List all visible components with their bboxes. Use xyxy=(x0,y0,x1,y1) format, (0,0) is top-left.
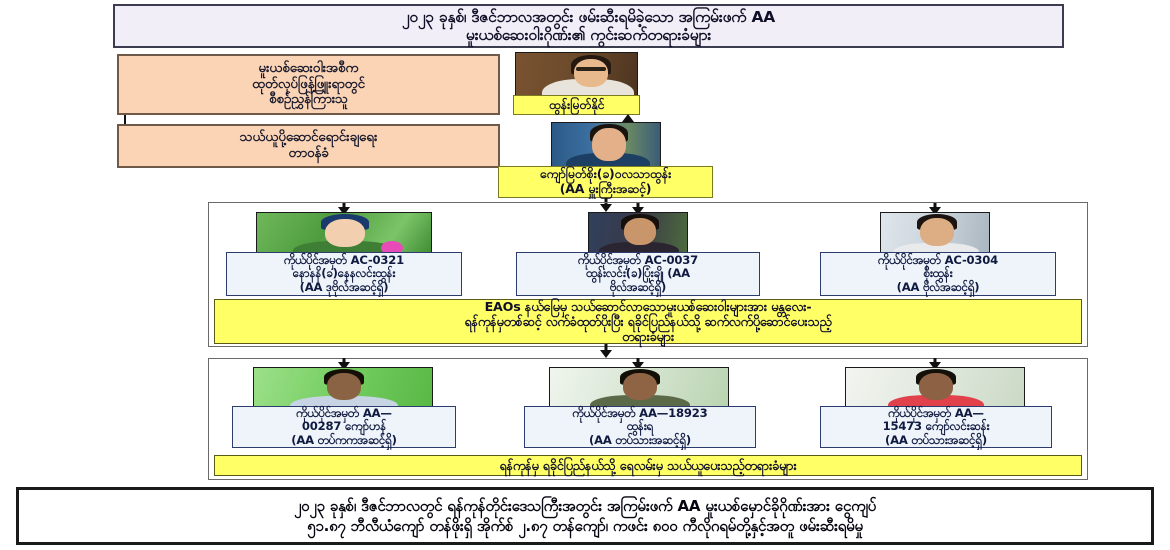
card-aa-18923: ကိုယ်ပိုင်အမှတ် AA—18923 ထွန်းရ (AA တပ်သ… xyxy=(524,406,756,448)
card-ac-0304: ကိုယ်ပိုင်အမှတ် AC-0304 စိုးထွန်း (AA ဗိ… xyxy=(820,252,1056,296)
card-ac-0037: ကိုယ်ပိုင်အမှတ် AC-0037 ထွန်းလင်း(ခ)ပြုံ… xyxy=(516,252,760,296)
arrow-down-to-soldier-group xyxy=(599,344,613,358)
footer-line1: ၂၀၂၃ ခုနှစ်၊ ဒီဇင်ဘာလတွင် ရန်ကုန်တိုင်းဒ… xyxy=(33,496,1137,516)
label-htun-myat-naing-text: ထွန်းမြတ်နိုင် xyxy=(518,98,635,113)
photo-head xyxy=(623,373,657,400)
card-aa-15473: ကိုယ်ပိုင်အမှတ် AA— 15473 ကျော်လင်းဆန်း … xyxy=(820,406,1052,448)
label-kyaw-myat-soe-line1: ကျော်မြတ်စိုး(ခ)ဝလသာထွန်း xyxy=(503,167,708,182)
card-ac-0304-line3: (AA ဗိုလ်အဆင့်ရှိ) xyxy=(824,281,1052,295)
card-ac-0321: ကိုယ်ပိုင်အမှတ် AC-0321 နောနနိ(ခ)နေနလင်း… xyxy=(226,252,462,296)
footer-summary: ၂၀၂၃ ခုနှစ်၊ ဒီဇင်ဘာလတွင် ရန်ကုန်တိုင်းဒ… xyxy=(16,487,1154,545)
card-aa-15473-line3: (AA တပ်သားအဆင့်ရှိ) xyxy=(824,434,1048,448)
band-eaos: EAOs နယ်မြေမှ သယ်ဆောင်လာသောမူးယစ်ဆေးဝါးမ… xyxy=(214,299,1082,344)
transport-coordination-line2: တာဝန်ခံ xyxy=(125,146,492,162)
page-title-line2: မူးယစ်ဆေးဝါးဂိုဏ်း၏ ကွင်းဆက်တရားခံများ xyxy=(125,26,1052,44)
card-ac-0037-line2: ထွန်းလင်း(ခ)ပြုံးချို (AA xyxy=(520,267,756,281)
diagram-canvas: ၂၀၂၃ ခုနှစ်၊ ဒီဇင်ဘာလအတွင်း ဖမ်းဆီးရမိခဲ… xyxy=(0,0,1170,550)
arrow-head-down xyxy=(600,350,612,358)
card-aa-00287-line1: ကိုယ်ပိုင်အမှတ် AA— xyxy=(236,407,452,421)
card-ac-0321-line2: နောနနိ(ခ)နေနလင်းထွန်း xyxy=(230,267,458,281)
photo-kyaw-myat-soe xyxy=(551,122,661,170)
photo-head xyxy=(919,373,953,400)
drug-production-line3: စီစဉ်ညွှန်ကြားသူ xyxy=(125,92,492,108)
transport-coordination-line1: သယ်ယူပို့ဆောင်ရောင်းချရေး xyxy=(125,130,492,146)
card-aa-15473-line1: ကိုယ်ပိုင်အမှတ် AA— xyxy=(824,407,1048,421)
band-eaos-line1: EAOs နယ်မြေမှ သယ်ဆောင်လာသောမူးယစ်ဆေးဝါးမ… xyxy=(225,299,1071,314)
card-ac-0304-line1: ကိုယ်ပိုင်အမှတ် AC-0304 xyxy=(824,254,1052,268)
card-aa-18923-line3: (AA တပ်သားအဆင့်ရှိ) xyxy=(528,434,752,448)
photo-head xyxy=(592,128,626,161)
label-htun-myat-naing: ထွန်းမြတ်နိုင် xyxy=(513,95,640,115)
page-title-line1: ၂၀၂၃ ခုနှစ်၊ ဒီဇင်ဘာလအတွင်း ဖမ်းဆီးရမိခဲ… xyxy=(125,8,1052,26)
card-aa-00287-line3: (AA တပ်ကကအဆင့်ရှိ) xyxy=(236,434,452,448)
card-aa-00287: ကိုယ်ပိုင်အမှတ် AA— 00287 ကျော်ဟန် (AA တ… xyxy=(232,406,456,448)
footer-line2: ၅၁.၈၇ ဘီလီယံကျော် တန်ဖိုးရှိ အိုက်စ် ၂.၈… xyxy=(33,516,1137,536)
photo-glasses xyxy=(576,67,606,71)
photo-head xyxy=(325,219,365,247)
photo-head xyxy=(574,59,608,87)
card-aa-18923-line2: ထွန်းရ xyxy=(528,420,752,434)
photo-ac-0037 xyxy=(588,212,688,256)
band-yangon-text: ရန်ကုန်မှ ရခိုင်ပြည်နယ်သို့ ရေလမ်းမှ သယ်… xyxy=(225,458,1071,473)
page-title: ၂၀၂၃ ခုနှစ်၊ ဒီဇင်ဘာလအတွင်း ဖမ်းဆီးရမိခဲ… xyxy=(113,4,1064,48)
photo-aa-00287 xyxy=(253,367,433,411)
photo-head xyxy=(327,373,361,400)
card-ac-0304-line2: စိုးထွန်း xyxy=(824,267,1052,281)
photo-aa-15473 xyxy=(845,367,1025,411)
transport-coordination-box: သယ်ယူပို့ဆောင်ရောင်းချရေး တာဝန်ခံ xyxy=(117,124,500,168)
band-eaos-line3: တရားခံများ xyxy=(225,329,1071,344)
photo-ac-0304 xyxy=(880,212,990,256)
card-ac-0037-line3: ဗိုလ်အဆင့်ရှိ) xyxy=(520,281,756,295)
drug-production-line1: မူးယစ်ဆေးဝါးအစီက xyxy=(125,61,492,77)
label-kyaw-myat-soe-line2: (AA မှူးကြီးအဆင့်) xyxy=(503,182,708,197)
photo-aa-18923 xyxy=(549,367,729,411)
card-aa-15473-line2: 15473 ကျော်လင်းဆန်း xyxy=(824,420,1048,434)
photo-ac-0321 xyxy=(256,212,432,256)
band-yangon: ရန်ကုန်မှ ရခိုင်ပြည်နယ်သို့ ရေလမ်းမှ သယ်… xyxy=(214,455,1082,476)
band-eaos-line2: ရန်ကုန်မှတစ်ဆင့် လက်ခံထုတ်ပိုးပြီး ရခိုင… xyxy=(225,314,1071,329)
label-kyaw-myat-soe: ကျော်မြတ်စိုး(ခ)ဝလသာထွန်း (AA မှူးကြီးအဆ… xyxy=(498,166,713,198)
card-ac-0321-line3: (AA ဒုဗိုလ်အဆင့်ရှိ) xyxy=(230,281,458,295)
card-aa-00287-line2: 00287 ကျော်ဟန် xyxy=(236,420,452,434)
card-aa-18923-line1: ကိုယ်ပိုင်အမှတ် AA—18923 xyxy=(528,407,752,421)
drug-production-box: မူးယစ်ဆေးဝါးအစီက ထုတ်လုပ်ဖြန့်ဖြူးရာတွင်… xyxy=(117,54,500,115)
photo-head xyxy=(920,218,954,246)
photo-head xyxy=(624,218,656,245)
card-ac-0321-line1: ကိုယ်ပိုင်အမှတ် AC-0321 xyxy=(230,254,458,268)
